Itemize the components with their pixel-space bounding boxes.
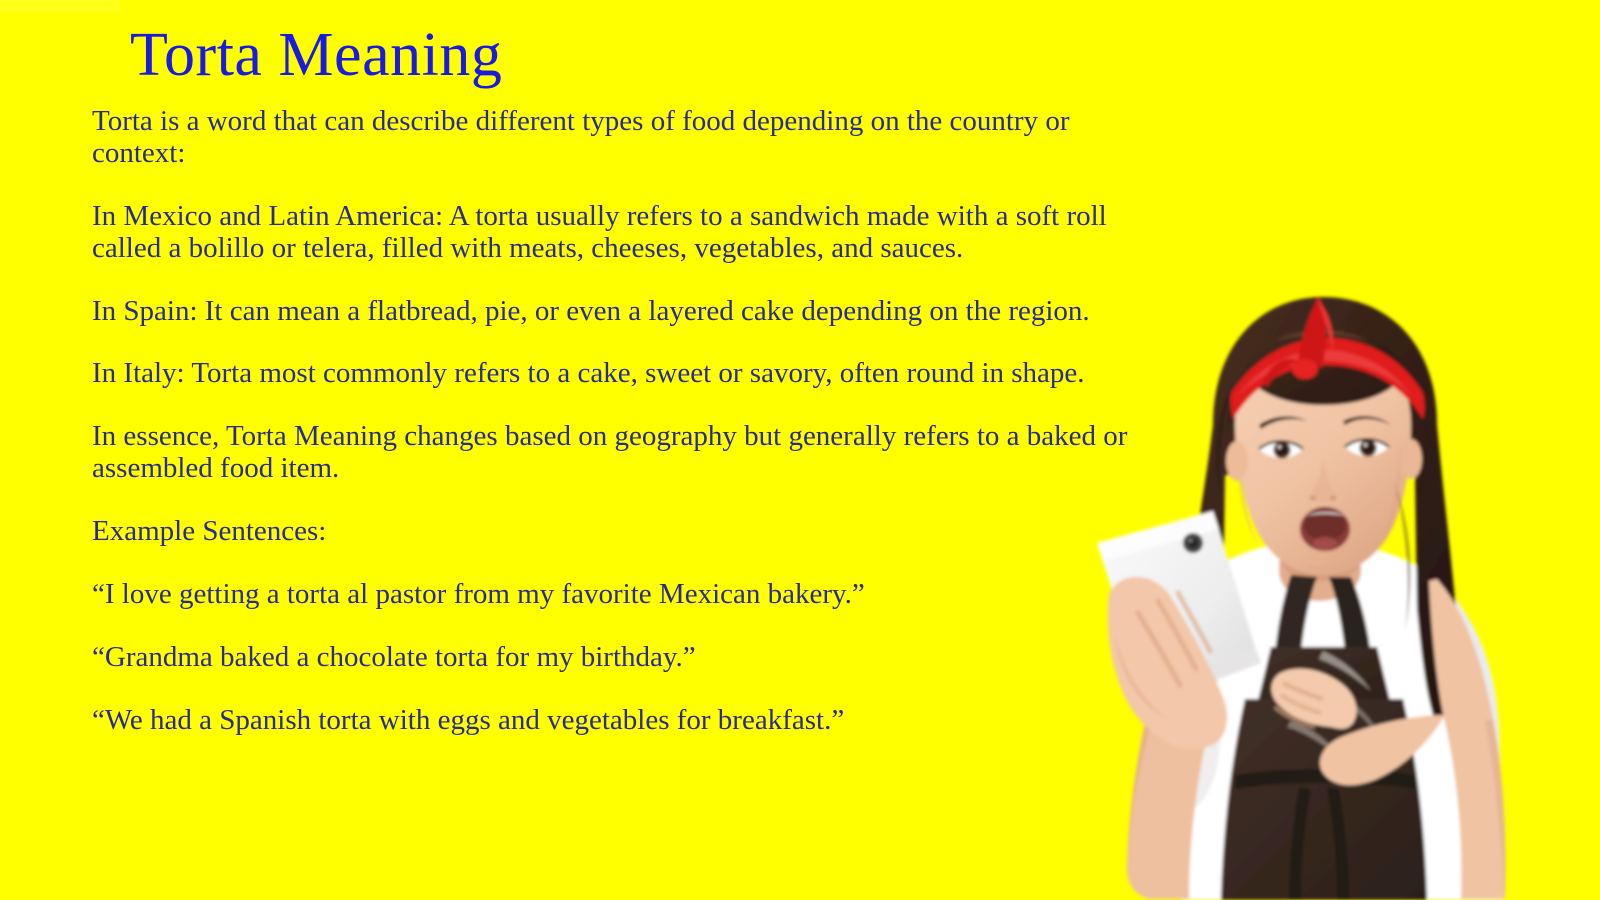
example-sentence-1: “I love getting a torta al pastor from m… <box>92 579 1167 611</box>
top-left-compression-artifact <box>0 0 120 12</box>
surprised-woman-photo <box>1085 275 1515 900</box>
ear-left <box>1226 441 1248 481</box>
paragraph-italy: In Italy: Torta most commonly refers to … <box>92 358 1167 390</box>
paragraph-in-essence: In essence, Torta Meaning changes based … <box>92 421 1167 485</box>
paragraph-mexico-latin-america: In Mexico and Latin America: A torta usu… <box>92 201 1167 265</box>
paragraph-definition-intro: Torta is a word that can describe differ… <box>92 106 1167 170</box>
text-column: Torta Meaning Torta is a word that can d… <box>92 24 1172 768</box>
ear-right <box>1400 439 1422 479</box>
heading-example-sentences: Example Sentences: <box>92 516 1167 548</box>
example-sentence-3: “We had a Spanish torta with eggs and ve… <box>92 705 1167 737</box>
slide-canvas: Torta Meaning Torta is a word that can d… <box>0 0 1600 900</box>
page-title: Torta Meaning <box>130 24 1172 86</box>
mouth-open-surprised <box>1300 507 1350 551</box>
paragraph-spain: In Spain: It can mean a flatbread, pie, … <box>92 296 1167 328</box>
example-sentence-2: “Grandma baked a chocolate torta for my … <box>92 642 1167 674</box>
